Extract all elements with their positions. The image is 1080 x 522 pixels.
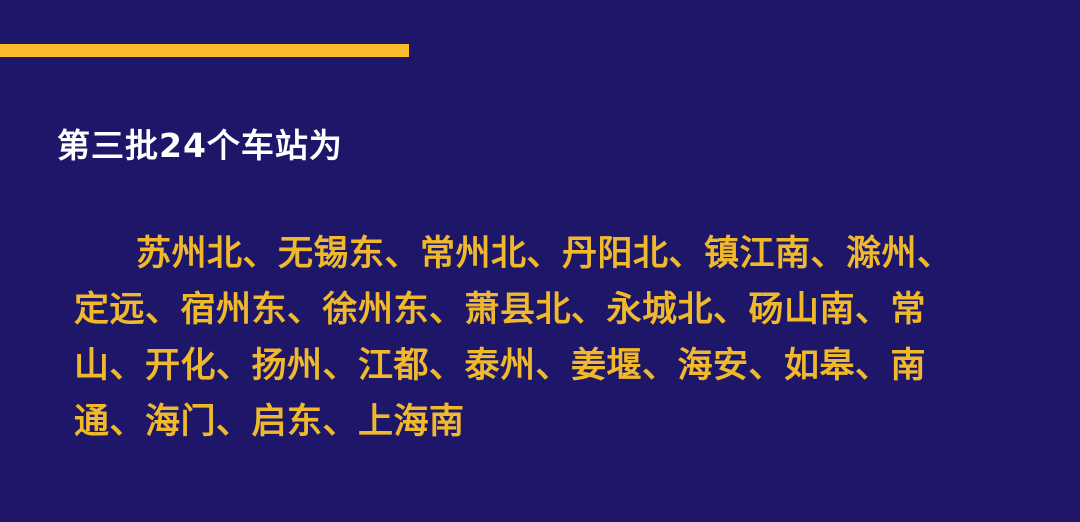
station-list-line: 通、海门、启东、上海南 — [74, 394, 1009, 450]
station-list-line: 苏州北、无锡东、常州北、丹阳北、镇江南、滁州、 — [74, 226, 1009, 282]
poster-canvas: 第三批24个车站为 苏州北、无锡东、常州北、丹阳北、镇江南、滁州、 定远、宿州东… — [0, 0, 1080, 522]
top-accent-bar — [0, 44, 409, 57]
station-list-line: 山、开化、扬州、江都、泰州、姜堰、海安、如皋、南 — [74, 338, 1009, 394]
station-list-block: 苏州北、无锡东、常州北、丹阳北、镇江南、滁州、 定远、宿州东、徐州东、萧县北、永… — [74, 226, 1009, 450]
page-title: 第三批24个车站为 — [57, 124, 343, 168]
station-list-line: 定远、宿州东、徐州东、萧县北、永城北、砀山南、常 — [74, 282, 1009, 338]
